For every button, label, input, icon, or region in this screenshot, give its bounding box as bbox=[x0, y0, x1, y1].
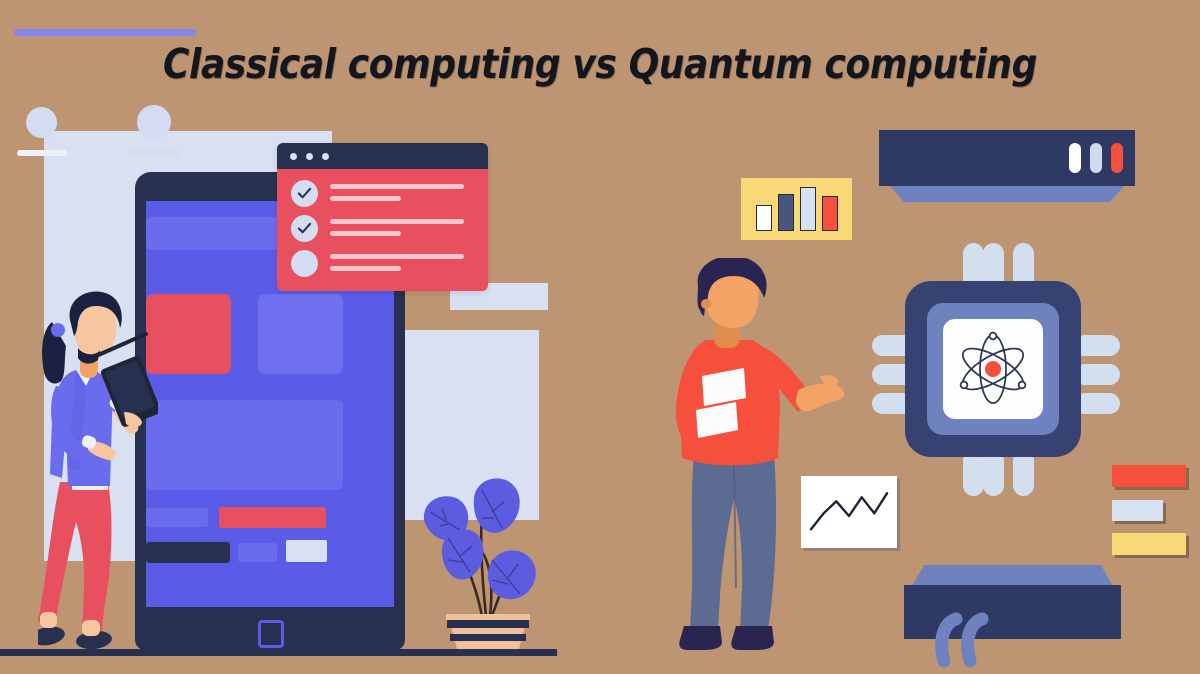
bar bbox=[822, 196, 838, 231]
avatar bbox=[26, 107, 57, 138]
list-item-title bbox=[330, 254, 464, 259]
bar bbox=[800, 187, 816, 231]
legend-bar-blue bbox=[1112, 500, 1163, 521]
bar bbox=[756, 205, 772, 231]
chip-core-panel bbox=[943, 319, 1043, 419]
led-blue-icon bbox=[1090, 143, 1102, 173]
bar bbox=[778, 194, 794, 231]
home-button[interactable] bbox=[258, 620, 284, 648]
window-titlebar bbox=[277, 143, 488, 169]
electron bbox=[1019, 382, 1026, 389]
woman-with-tablet bbox=[38, 290, 158, 658]
card-label bbox=[17, 150, 67, 156]
list-item[interactable] bbox=[291, 250, 476, 279]
server-unit-bottom-top bbox=[912, 565, 1113, 586]
led-white-icon bbox=[1069, 143, 1081, 173]
maximize-icon[interactable] bbox=[322, 153, 329, 160]
floor-line bbox=[0, 649, 557, 656]
avatar bbox=[137, 105, 171, 139]
profile-card-red[interactable] bbox=[146, 294, 231, 374]
list-item[interactable] bbox=[291, 180, 476, 209]
potted-plant bbox=[420, 468, 556, 653]
primary-action-bar[interactable] bbox=[219, 507, 326, 528]
list-item-subtitle bbox=[330, 231, 401, 236]
search-bar-placeholder-line bbox=[14, 29, 196, 36]
light-chip[interactable] bbox=[286, 540, 327, 562]
check-icon bbox=[297, 221, 312, 236]
bar-chart-picture-frame bbox=[738, 175, 855, 243]
electron bbox=[990, 333, 997, 340]
list-item-title bbox=[330, 184, 464, 189]
profile-card-blue[interactable] bbox=[258, 294, 343, 374]
list-item[interactable] bbox=[291, 215, 476, 244]
server-unit-bottom bbox=[904, 585, 1121, 639]
checklist-body bbox=[277, 169, 488, 291]
man-presenting bbox=[670, 258, 850, 653]
illustration-canvas: Classical computing vs Quantum computing bbox=[0, 0, 1200, 674]
list-item-subtitle bbox=[330, 196, 401, 201]
list-item-title bbox=[330, 219, 464, 224]
checklist-window[interactable] bbox=[277, 143, 488, 291]
dark-chip[interactable] bbox=[146, 542, 230, 563]
close-icon[interactable] bbox=[290, 153, 297, 160]
page-title: Classical computing vs Quantum computing bbox=[72, 40, 1128, 88]
atom-nucleus bbox=[985, 361, 1001, 377]
check-icon bbox=[297, 186, 312, 201]
card-label bbox=[128, 150, 180, 156]
server-unit-top-base bbox=[890, 186, 1124, 202]
legend-bar-yellow bbox=[1112, 533, 1186, 555]
mid-chip[interactable] bbox=[238, 543, 277, 562]
content-panel bbox=[146, 400, 343, 490]
checkbox-empty-icon[interactable] bbox=[291, 250, 318, 277]
legend-bar-red bbox=[1112, 465, 1186, 487]
electron bbox=[961, 382, 968, 389]
minimize-icon[interactable] bbox=[306, 153, 313, 160]
atom-icon bbox=[943, 319, 1043, 419]
server-cables bbox=[904, 595, 1121, 674]
list-item-subtitle bbox=[330, 266, 401, 271]
led-red-icon bbox=[1111, 143, 1123, 173]
